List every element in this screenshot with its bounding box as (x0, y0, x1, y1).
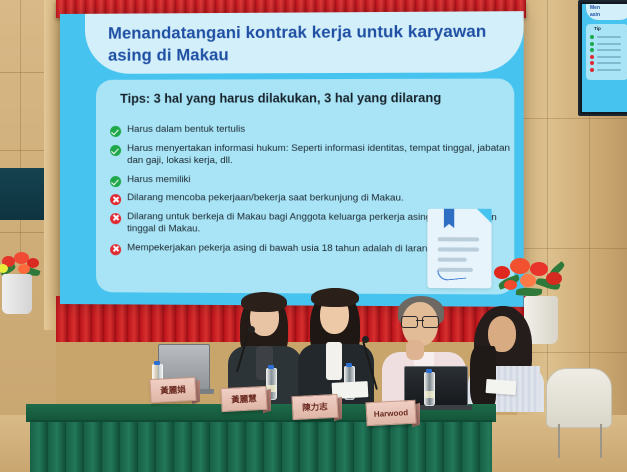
check-circle-icon (590, 35, 594, 39)
bookmark-icon (444, 209, 454, 228)
projection-screen: Menandatangani kontrak kerja untuk karya… (60, 11, 524, 307)
glasses-icon (401, 316, 439, 326)
nameplate: 陳力志 (291, 394, 338, 420)
slide-content-panel: Tips: 3 hal yang harus dilakukan, 3 hal … (96, 78, 514, 294)
slide-title-line-1: Menandatangani kontrak kerja untuk karya… (108, 21, 511, 45)
side-monitor-rows (590, 35, 621, 75)
nameplate: Harwood (365, 400, 416, 427)
side-monitor: Men asin Tip (578, 0, 627, 116)
cross-circle-icon (110, 244, 121, 255)
side-monitor-title-line-1: Men (590, 5, 600, 12)
check-circle-icon (590, 42, 594, 46)
list-item (590, 55, 621, 59)
slide-title-line-2: asing di Makau (108, 44, 511, 68)
hijab-drape (470, 346, 496, 408)
cross-circle-icon (590, 55, 594, 59)
check-circle-icon (110, 144, 121, 155)
screenshot-root: Menandatangani kontrak kerja untuk karya… (0, 0, 627, 472)
side-monitor-tips: Tip (594, 26, 601, 31)
microphone-head (248, 326, 255, 333)
microphone-head (362, 336, 369, 343)
chair-leg (600, 424, 602, 458)
nameplate-label: 黃麗娟 (160, 383, 186, 396)
side-monitor-content-panel: Tip (586, 24, 627, 80)
hair-front (311, 288, 359, 307)
signature-mark (437, 267, 466, 281)
hand (406, 340, 424, 360)
cross-circle-icon (590, 68, 594, 72)
check-circle-icon (590, 48, 594, 52)
list-item-label: Harus menyertakan informasi hukum: Seper… (127, 142, 513, 168)
list-item: Harus memiliki (110, 174, 513, 188)
cross-circle-icon (590, 61, 594, 65)
wall-dark-panel (0, 168, 45, 220)
side-monitor-title-line-2: asin (590, 12, 600, 19)
list-item: Dilarang mencoba pekerjaan/bekerja saat … (110, 192, 513, 206)
chair-leg (558, 424, 560, 458)
hair-front (241, 292, 287, 312)
slide-tips-heading: Tips: 3 hal yang harus dilakukan, 3 hal … (120, 91, 508, 106)
panel-table-skirt (30, 420, 492, 472)
nameplate-label: Harwood (374, 408, 409, 419)
water-bottle (424, 372, 435, 406)
side-monitor-screen: Men asin Tip (582, 4, 627, 112)
check-circle-icon (110, 176, 121, 187)
papers (486, 379, 517, 395)
list-item: Harus menyertakan informasi hukum: Seper… (110, 142, 513, 168)
page-fold (477, 209, 492, 223)
list-item-label: Harus memiliki (127, 174, 190, 187)
cross-circle-icon (110, 213, 121, 224)
list-item-label: Mempekerjakan pekerja asing di bawah usi… (127, 242, 435, 256)
nameplate-label: 陳力志 (302, 400, 328, 413)
side-monitor-title: Men asin (590, 5, 600, 18)
nameplate: 黃麗娟 (149, 377, 196, 403)
list-item (590, 61, 621, 65)
contract-document-icon (427, 209, 491, 289)
cross-circle-icon (110, 194, 121, 205)
list-item (590, 42, 621, 46)
nameplate-label: 黃麗慧 (231, 392, 257, 405)
panelist-4 (468, 306, 544, 412)
slide: Menandatangani kontrak kerja untuk karya… (60, 11, 524, 307)
check-circle-icon (110, 126, 121, 137)
nameplate: 黃麗慧 (220, 386, 267, 412)
list-item: Harus dalam bentuk tertulis (110, 123, 513, 137)
slide-title: Menandatangani kontrak kerja untuk karya… (108, 21, 511, 67)
chair (546, 368, 612, 428)
list-item-label: Dilarang mencoba pekerjaan/bekerja saat … (127, 192, 404, 206)
list-item (590, 68, 621, 72)
list-item-label: Harus dalam bentuk tertulis (127, 124, 245, 137)
list-item (590, 48, 621, 52)
vase-left (2, 274, 32, 314)
list-item (590, 35, 621, 39)
